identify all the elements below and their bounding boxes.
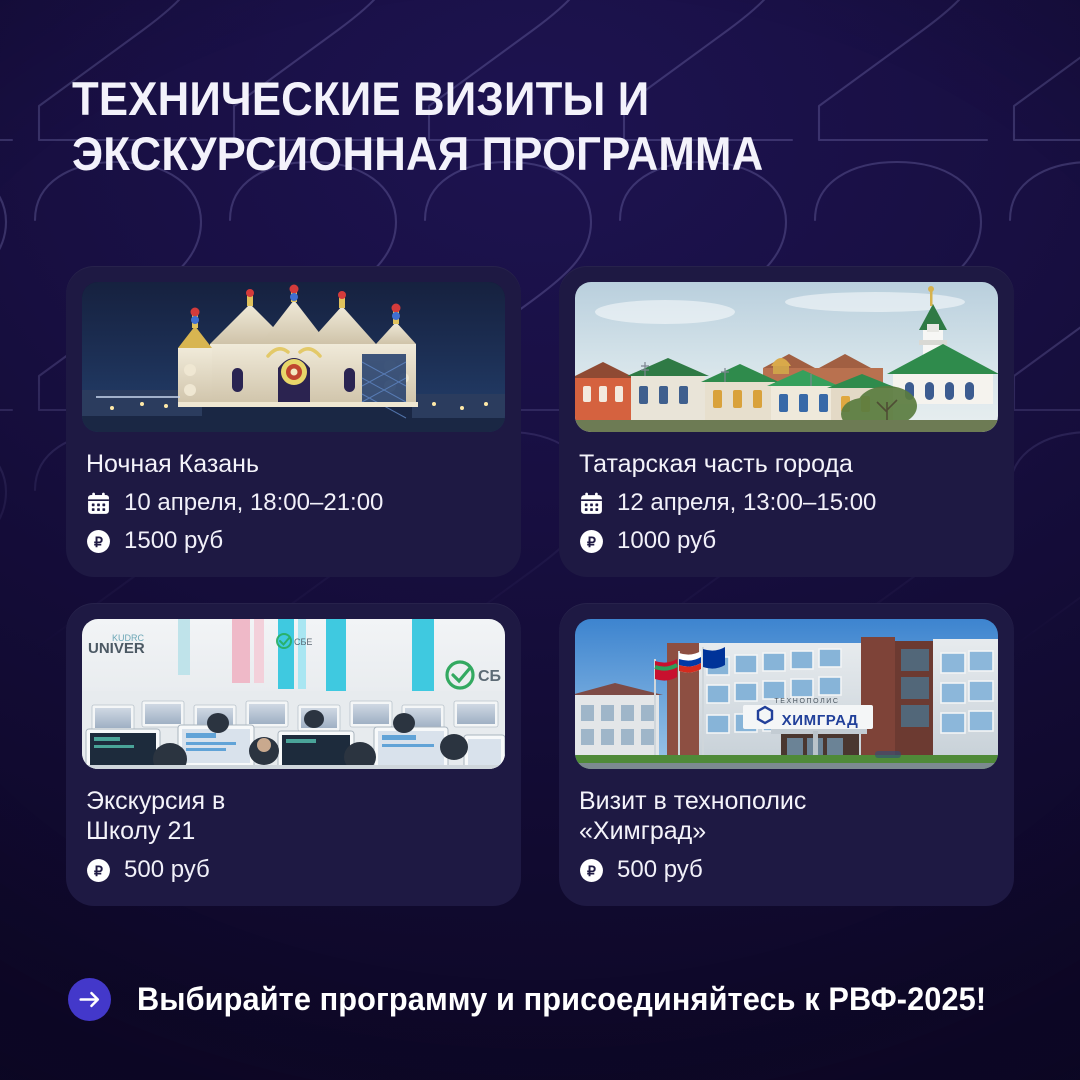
excursion-card[interactable]: ТЕХНОПОЛИС ХИМГРАД: [559, 603, 1014, 906]
card-date: 10 апреля, 18:00–21:00: [124, 489, 383, 517]
card-price: 1000 руб: [617, 527, 716, 555]
old-tatar-quarter-photo: [575, 282, 998, 432]
svg-text:СБ: СБ: [478, 668, 501, 685]
card-body: Экскурсия в Школу 21 ₽ 500 руб: [82, 786, 505, 884]
poster: ТЕХНИЧЕСКИЕ ВИЗИТЫ И ЭКСКУРСИОННАЯ ПРОГР…: [0, 0, 1080, 1080]
card-body: Визит в технополис «Химград» ₽ 500 руб: [575, 786, 998, 884]
ruble-icon: ₽: [86, 858, 111, 883]
card-title: Татарская часть города: [579, 449, 994, 479]
ruble-icon: ₽: [579, 858, 604, 883]
svg-text:₽: ₽: [94, 533, 103, 549]
card-title: Визит в технополис «Химград»: [579, 786, 994, 846]
calendar-icon: [579, 491, 604, 516]
khimgrad-technopolis-building-photo: ТЕХНОПОЛИС ХИМГРАД: [575, 619, 998, 769]
call-to-action-text: Выбирайте программу и присоединяйтесь к …: [137, 981, 986, 1018]
excursion-card[interactable]: СБЕ СБ UNIVER KUDRC: [66, 603, 521, 906]
school-21-computer-lab-photo: СБЕ СБ UNIVER KUDRC: [82, 619, 505, 769]
svg-text:₽: ₽: [587, 533, 596, 549]
excursion-card[interactable]: Ночная Казань: [66, 266, 521, 577]
card-date: 12 апреля, 13:00–15:00: [617, 489, 876, 517]
svg-text:₽: ₽: [587, 862, 596, 878]
card-price: 1500 руб: [124, 527, 223, 555]
excursion-card[interactable]: Татарская часть города: [559, 266, 1014, 577]
card-price-row: ₽ 500 руб: [579, 856, 994, 884]
svg-text:СБЕ: СБЕ: [294, 637, 312, 647]
card-title: Ночная Казань: [86, 449, 501, 479]
svg-text:₽: ₽: [94, 862, 103, 878]
page-title: ТЕХНИЧЕСКИЕ ВИЗИТЫ И ЭКСКУРСИОННАЯ ПРОГР…: [72, 72, 890, 182]
card-body: Татарская часть города: [575, 449, 998, 555]
excursion-card-grid: Ночная Казань: [66, 266, 1014, 906]
ruble-icon: ₽: [579, 529, 604, 554]
calendar-icon: [86, 491, 111, 516]
card-price-row: ₽ 1500 руб: [86, 527, 501, 555]
card-price-row: ₽ 1000 руб: [579, 527, 994, 555]
svg-text:ХИМГРАД: ХИМГРАД: [782, 712, 859, 729]
card-body: Ночная Казань: [82, 449, 505, 555]
svg-text:KUDRC: KUDRC: [112, 633, 145, 643]
night-kazan-puppet-theatre-photo: [82, 282, 505, 432]
card-date-row: 12 апреля, 13:00–15:00: [579, 489, 994, 517]
card-price: 500 руб: [124, 856, 210, 884]
svg-text:ТЕХНОПОЛИС: ТЕХНОПОЛИС: [774, 698, 839, 705]
ruble-icon: ₽: [86, 529, 111, 554]
call-to-action[interactable]: Выбирайте программу и присоединяйтесь к …: [68, 978, 1022, 1021]
card-price-row: ₽ 500 руб: [86, 856, 501, 884]
card-price: 500 руб: [617, 856, 703, 884]
card-date-row: 10 апреля, 18:00–21:00: [86, 489, 501, 517]
card-title: Экскурсия в Школу 21: [86, 786, 501, 846]
arrow-right-circle-icon[interactable]: [68, 978, 111, 1021]
